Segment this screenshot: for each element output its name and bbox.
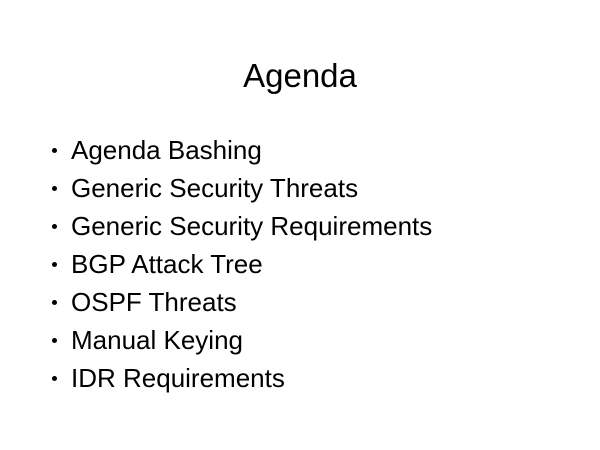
list-item-label: BGP Attack Tree: [71, 245, 263, 283]
bullet-dot-icon: [52, 262, 57, 267]
bullet-dot-icon: [52, 376, 57, 381]
list-item: Generic Security Requirements: [46, 207, 586, 245]
list-item: BGP Attack Tree: [46, 245, 586, 283]
bullet-dot-icon: [52, 338, 57, 343]
list-item-label: IDR Requirements: [71, 359, 285, 397]
agenda-bullet-list: Agenda Bashing Generic Security Threats …: [46, 131, 586, 397]
bullet-dot-icon: [52, 186, 57, 191]
bullet-dot-icon: [52, 300, 57, 305]
bullet-dot-icon: [52, 224, 57, 229]
list-item-label: Generic Security Requirements: [71, 207, 432, 245]
bullet-dot-icon: [52, 148, 57, 153]
list-item-label: Generic Security Threats: [71, 169, 358, 207]
list-item: OSPF Threats: [46, 283, 586, 321]
list-item-label: Agenda Bashing: [71, 131, 262, 169]
page-title: Agenda: [0, 57, 600, 95]
list-item: Agenda Bashing: [46, 131, 586, 169]
presentation-slide: Agenda Agenda Bashing Generic Security T…: [0, 0, 600, 450]
list-item-label: Manual Keying: [71, 321, 243, 359]
list-item-label: OSPF Threats: [71, 283, 237, 321]
list-item: Generic Security Threats: [46, 169, 586, 207]
list-item: IDR Requirements: [46, 359, 586, 397]
list-item: Manual Keying: [46, 321, 586, 359]
